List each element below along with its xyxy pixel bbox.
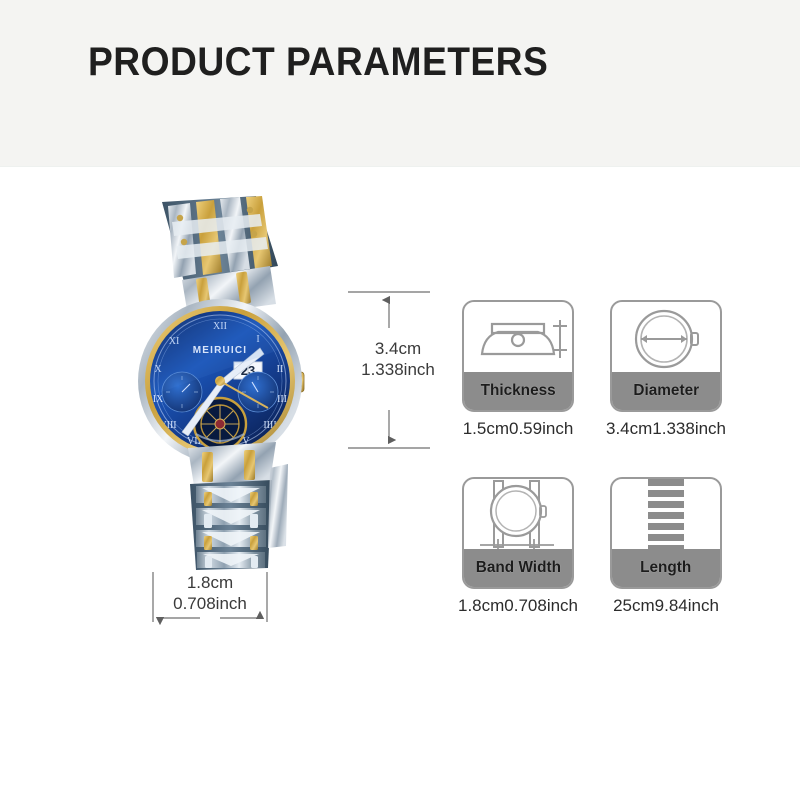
spec-label-band-width: Band Width: [475, 559, 560, 577]
spec-label-bar-diameter: Diameter: [612, 372, 720, 410]
spec-label-diameter: Diameter: [633, 382, 699, 400]
length-icon-area: [612, 479, 720, 553]
spec-grid: Thickness 1.5cm0.59inch: [462, 300, 782, 616]
spec-value-band-width: 1.8cm0.708inch: [454, 596, 582, 616]
page-title: PRODUCT PARAMETERS: [88, 40, 548, 85]
dimension-horizontal: 1.8cm 0.708inch: [150, 570, 270, 630]
svg-text:II: II: [277, 364, 284, 375]
spec-label-thickness: Thickness: [480, 382, 555, 400]
spec-card-band-width[interactable]: Band Width: [462, 477, 574, 589]
spec-label-bar-thickness: Thickness: [464, 372, 572, 410]
spec-cell-band-width: Band Width 1.8cm0.708inch: [462, 477, 582, 616]
spec-row-bottom: Band Width 1.8cm0.708inch: [462, 477, 782, 616]
spec-label-length: Length: [640, 559, 691, 577]
band-width-icon-area: [464, 479, 572, 553]
spec-card-thickness[interactable]: Thickness: [462, 300, 574, 412]
watch-diameter-icon: [612, 302, 720, 376]
spec-value-diameter: 3.4cm1.338inch: [602, 419, 730, 439]
dimension-vertical: 3.4cm 1.338inch: [338, 288, 458, 453]
spec-row-top: Thickness 1.5cm0.59inch: [462, 300, 782, 439]
watch-strap-length-icon: [612, 479, 720, 553]
spec-cell-length: Length 25cm9.84inch: [610, 477, 730, 616]
spec-card-diameter[interactable]: Diameter: [610, 300, 722, 412]
spec-cell-diameter: Diameter 3.4cm1.338inch: [610, 300, 730, 439]
watch-illustration: XII I II III IIII V VII VIII IX X XI MEI…: [110, 196, 330, 576]
watch-band-width-icon: [464, 479, 572, 553]
spec-label-bar-length: Length: [612, 549, 720, 587]
spec-value-length: 25cm9.84inch: [602, 596, 730, 616]
spec-cell-thickness: Thickness 1.5cm0.59inch: [462, 300, 582, 439]
dimension-vertical-inch: 1.338inch: [338, 359, 458, 380]
product-photo: XII I II III IIII V VII VIII IX X XI MEI…: [110, 196, 330, 576]
spec-value-thickness: 1.5cm0.59inch: [454, 419, 582, 439]
dimension-horizontal-graphic: [150, 570, 270, 630]
diameter-icon-area: [612, 302, 720, 376]
dimension-vertical-cm: 3.4cm: [338, 338, 458, 359]
svg-text:III: III: [277, 394, 287, 405]
spec-label-bar-band-width: Band Width: [464, 549, 572, 587]
dimension-vertical-label: 3.4cm 1.338inch: [338, 338, 458, 380]
watch-thickness-icon: [464, 302, 572, 376]
thickness-icon-area: [464, 302, 572, 376]
spec-card-length[interactable]: Length: [610, 477, 722, 589]
